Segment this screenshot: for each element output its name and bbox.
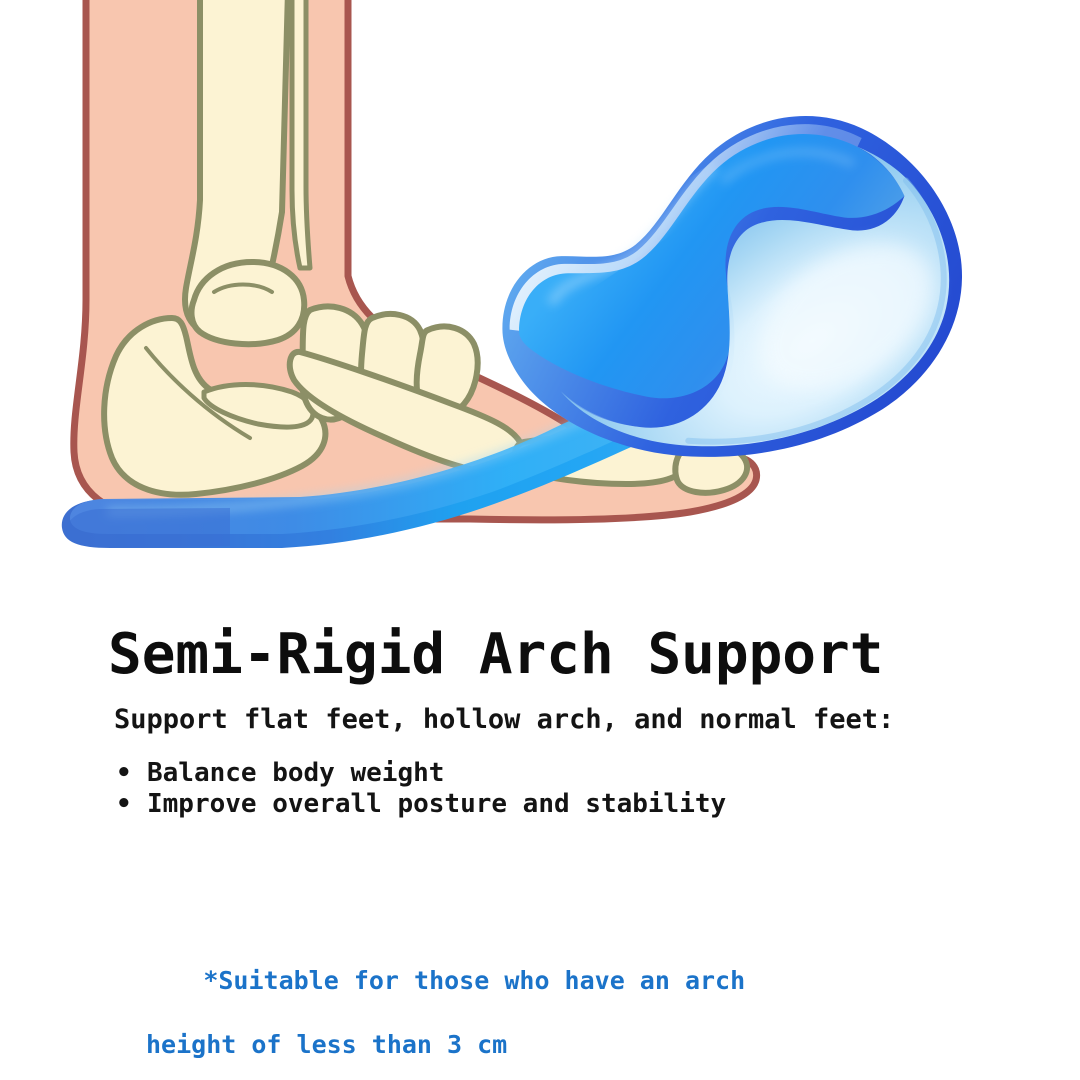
talus-bone bbox=[192, 262, 305, 344]
subtitle: Support flat feet, hollow arch, and norm… bbox=[114, 704, 894, 736]
list-item: • Improve overall posture and stability bbox=[114, 789, 726, 820]
footnote-line-2: height of less than 3 cm bbox=[113, 1029, 745, 1061]
foot-anatomy-with-insole-illustration bbox=[0, 0, 1080, 600]
product-feature-card: Semi-Rigid Arch Support Support flat fee… bbox=[0, 0, 1080, 1080]
product-text-block: Semi-Rigid Arch Support Support flat fee… bbox=[0, 600, 1080, 1080]
fibula-bone bbox=[292, 0, 310, 268]
footnote-line-1: *Suitable for those who have an arch bbox=[203, 966, 745, 995]
list-item: • Balance body weight bbox=[114, 758, 726, 789]
bullet-icon: • bbox=[116, 789, 132, 820]
bullet-icon: • bbox=[116, 758, 132, 789]
footnote: *Suitable for those who have an arch hei… bbox=[113, 933, 745, 1080]
list-item-label: Balance body weight bbox=[147, 758, 444, 788]
page-title: Semi-Rigid Arch Support bbox=[108, 624, 883, 686]
benefits-list: • Balance body weight • Improve overall … bbox=[114, 758, 726, 820]
list-item-label: Improve overall posture and stability bbox=[147, 789, 726, 819]
